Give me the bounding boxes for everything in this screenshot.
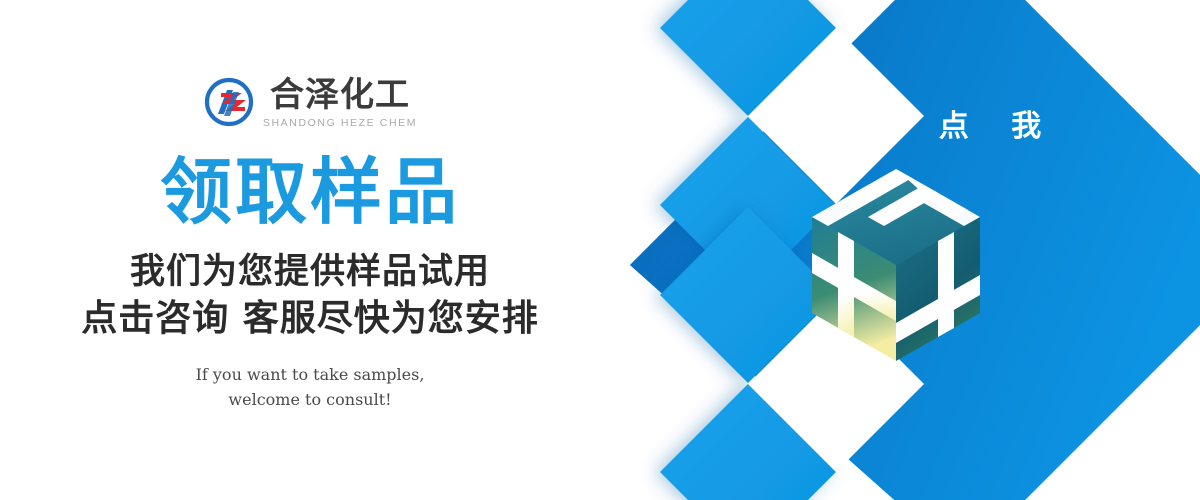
hero-subheadline: 我们为您提供样品试用 点击咨询 客服尽快为您安排 bbox=[81, 250, 539, 341]
hero-subline-1: 我们为您提供样品试用 bbox=[81, 250, 539, 295]
brand-name-cn: 合泽化工 bbox=[270, 78, 410, 112]
geometric-graphic-panel bbox=[600, 0, 1200, 500]
hero-english-caption: If you want to take samples, welcome to … bbox=[196, 363, 425, 413]
heze-monogram-circle-icon bbox=[203, 76, 255, 128]
brand-name-en: SHANDONG HEZE CHEM bbox=[263, 117, 417, 129]
hero-subline-2: 点击咨询 客服尽快为您安排 bbox=[81, 295, 539, 341]
cta-label[interactable]: 点 我 bbox=[900, 112, 1080, 142]
left-content: 合泽化工 SHANDONG HEZE CHEM 领取样品 我们为您提供样品试用 … bbox=[0, 0, 620, 500]
geometric-pattern-svg bbox=[600, 0, 1200, 500]
english-line-1: If you want to take samples, bbox=[196, 363, 425, 388]
promo-banner: 点 我 合泽化工 SHANDONG HEZE CHEM 领取样品 我们为您提供样… bbox=[0, 0, 1200, 500]
hero-headline: 领取样品 bbox=[160, 156, 460, 228]
english-line-2: welcome to consult! bbox=[196, 388, 425, 413]
brand-lockup[interactable]: 合泽化工 SHANDONG HEZE CHEM bbox=[203, 76, 417, 134]
